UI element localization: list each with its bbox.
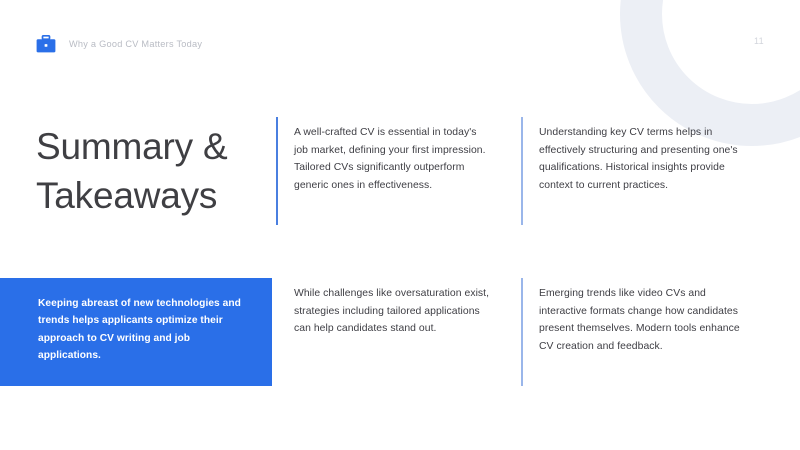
slide-header: Why a Good CV Matters Today (36, 32, 202, 56)
highlighted-takeaway-text: Keeping abreast of new technologies and … (0, 278, 272, 365)
takeaway-text: A well-crafted CV is essential in today'… (276, 117, 516, 194)
slide-canvas: Why a Good CV Matters Today 11 Summary &… (0, 0, 800, 450)
accent-bar (521, 117, 523, 225)
accent-bar (276, 117, 278, 225)
takeaway-card-top-middle: A well-crafted CV is essential in today'… (276, 117, 516, 225)
takeaway-card-bottom-right: Emerging trends like video CVs and inter… (521, 278, 773, 386)
title-cell (0, 117, 272, 225)
content-row-top: A well-crafted CV is essential in today'… (0, 117, 800, 225)
takeaway-card-top-right: Understanding key CV terms helps in effe… (521, 117, 773, 225)
takeaway-text: Emerging trends like video CVs and inter… (521, 278, 773, 355)
takeaway-card-bottom-middle: While challenges like oversaturation exi… (276, 278, 516, 386)
header-title: Why a Good CV Matters Today (69, 39, 202, 49)
briefcase-icon (36, 35, 56, 53)
takeaway-text: While challenges like oversaturation exi… (276, 278, 516, 338)
page-number: 11 (754, 36, 764, 46)
accent-bar (521, 278, 523, 386)
highlighted-takeaway-card: Keeping abreast of new technologies and … (0, 278, 272, 386)
takeaway-text: Understanding key CV terms helps in effe… (521, 117, 773, 194)
